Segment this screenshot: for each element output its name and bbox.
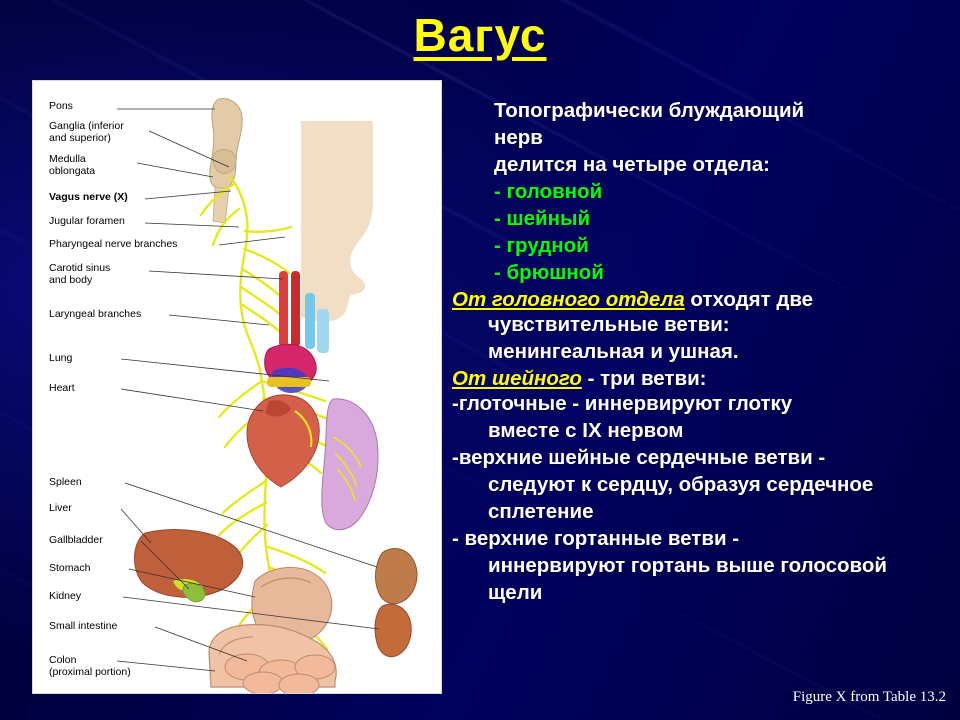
figure-label-ganglia: Ganglia (inferior and superior) — [49, 121, 124, 144]
figure-label-spleen: Spleen — [49, 477, 82, 489]
body-line-laryngeal-cont2: щели — [488, 580, 948, 605]
body-line-cardiac-cont1: следуют к сердцу, образуя сердечное — [488, 472, 948, 497]
figure-label-pharyngeal: Pharyngeal nerve branches — [49, 239, 177, 251]
body-line-laryngeal-cont1: иннервируют гортань выше голосовой — [488, 553, 948, 578]
figure-label-lung: Lung — [49, 353, 72, 365]
figure-label-kidney: Kidney — [49, 591, 81, 603]
emphasis-cervical-division: От шейного — [452, 367, 582, 390]
body-line-1: Топографически блуждающий — [494, 98, 948, 123]
body-line-cranial-heading-row: От головного отдела отходят две — [452, 287, 948, 312]
body-line-2: нерв — [494, 125, 948, 150]
figure-label-liver: Liver — [49, 503, 72, 515]
body-line-cardiac-cont2: сплетение — [488, 499, 948, 524]
slide-title: Вагус — [0, 8, 960, 62]
body-line-sensory-branches: чувствительные ветви: — [488, 312, 948, 337]
figure-label-colon: Colon (proximal portion) — [49, 655, 131, 678]
emphasis-cranial-division: От головного отдела — [452, 288, 685, 311]
body-line-3: делится на четыре отдела: — [494, 152, 948, 177]
figure-label-small-intestine: Small intestine — [49, 621, 117, 633]
body-line-pharyngeal-cont: вместе с IX нервом — [488, 418, 948, 443]
figure-label-jugular-foramen: Jugular foramen — [49, 216, 125, 228]
figure-label-vagus-nerve: Vagus nerve (X) — [49, 192, 128, 204]
figure-label-heart: Heart — [49, 383, 75, 395]
body-line-division-cranial: - головной — [494, 179, 948, 204]
body-line-meningeal-auricular: менингеальная и ушная. — [488, 339, 948, 364]
figure-label-laryngeal: Laryngeal branches — [49, 309, 141, 321]
figure-label-medulla: Medulla oblongata — [49, 154, 95, 177]
body-line-cranial-rest: отходят две — [685, 288, 813, 311]
body-line-cervical-heading-row: От шейного - три ветви: — [452, 366, 948, 391]
body-line-division-cervical: - шейный — [494, 206, 948, 231]
figure-label-pons: Pons — [49, 101, 73, 113]
body-line-cardiac: -верхние шейные сердечные ветви - — [452, 445, 948, 470]
body-line-division-thoracic: - грудной — [494, 233, 948, 258]
body-text-column: Топографически блуждающий нерв делится н… — [452, 98, 948, 607]
body-line-division-abdominal: - брюшной — [494, 260, 948, 285]
body-line-cervical-rest: - три ветви: — [582, 367, 707, 390]
figure-label-carotid: Carotid sinus and body — [49, 263, 110, 286]
body-line-pharyngeal: -глоточные - иннервируют глотку — [452, 391, 948, 416]
figure-label-gallbladder: Gallbladder — [49, 535, 103, 547]
figure-credit: Figure X from Table 13.2 — [793, 689, 946, 706]
body-line-laryngeal: - верхние гортанные ветви - — [452, 526, 948, 551]
slide: Вагус — [0, 0, 960, 720]
figure-label-stomach: Stomach — [49, 563, 90, 575]
anatomy-figure-panel: Pons Ganglia (inferior and superior) Med… — [32, 80, 442, 694]
